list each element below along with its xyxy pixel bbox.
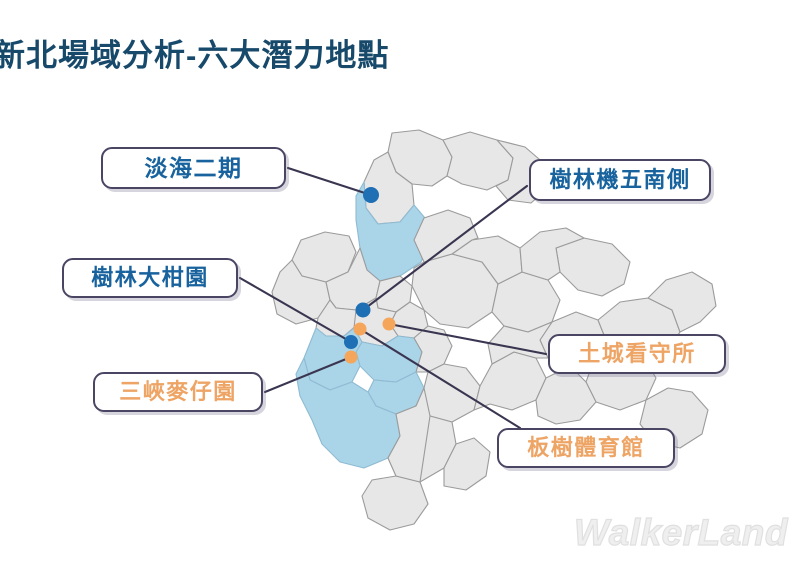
callout-label: 淡海二期	[145, 157, 243, 180]
district-jinshan	[443, 132, 513, 190]
callout-shulin-daganyuan[interactable]: 樹林大柑園	[62, 258, 238, 298]
connector-line-danhai	[288, 168, 371, 195]
marker-shulin-daganyuan	[344, 335, 358, 349]
callout-shulin-jiwu-nance[interactable]: 樹林機五南側	[529, 159, 711, 201]
district-shiding	[474, 352, 546, 410]
callout-label: 樹林大柑園	[91, 267, 209, 289]
callout-label: 土城看守所	[578, 343, 696, 365]
marker-banshu-tiyuguan	[354, 323, 367, 336]
district-northeast-coast	[556, 238, 630, 296]
marker-danhai-erqi	[363, 187, 379, 203]
marker-shulin-jiwu	[356, 303, 371, 318]
callout-danhai-erqi[interactable]: 淡海二期	[101, 147, 286, 189]
callout-label: 三峽麥仔園	[119, 381, 237, 403]
walkerland-watermark: WalkerLand	[574, 512, 788, 554]
slide-canvas: 新北場域分析-六大潛力地點 淡海二期 樹林機五南側 樹林大柑園 土城看守所 三峽…	[0, 0, 800, 564]
callout-label: 板樹體育館	[527, 437, 645, 459]
callout-banshu-tiyuguan[interactable]: 板樹體育館	[497, 428, 675, 468]
page-title: 新北場域分析-六大潛力地點	[0, 30, 389, 75]
callout-tucheng-kanshousuo[interactable]: 土城看守所	[548, 334, 726, 374]
district-pinglin	[536, 366, 596, 424]
callout-label: 樹林機五南側	[549, 169, 690, 191]
marker-tucheng-kanshousuo	[383, 318, 396, 331]
district-sanxia-south	[362, 476, 428, 530]
callout-sanxia-maiziyuan[interactable]: 三峽麥仔園	[93, 372, 263, 412]
marker-sanxia-maiziyuan	[345, 351, 358, 364]
